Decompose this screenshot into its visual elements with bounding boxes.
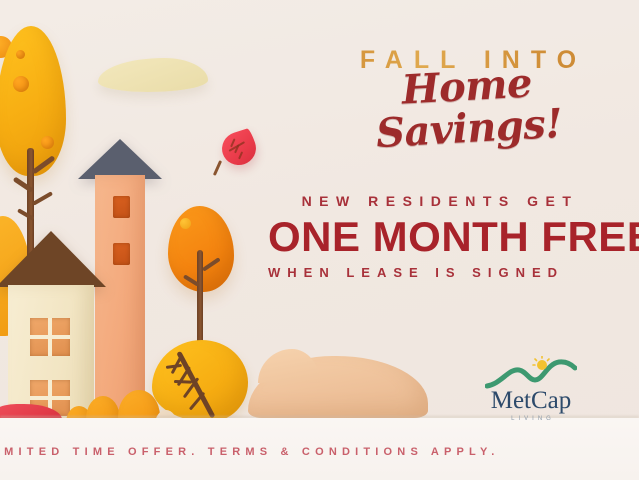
roof-icon <box>0 231 106 287</box>
offer-eyebrow: NEW RESIDENTS GET <box>268 193 612 209</box>
leaf-stem <box>213 160 222 176</box>
disclaimer-text: LIMITED TIME OFFER. TERMS & CONDITIONS A… <box>0 446 500 458</box>
offer-headline: ONE MONTH FREE <box>268 216 639 258</box>
cloud-icon <box>98 58 208 92</box>
leaf-icon <box>218 128 261 170</box>
headline-script: Home Savings! <box>316 58 620 159</box>
branch-icon <box>32 191 53 205</box>
promotional-banner: FALL INTO Home Savings! NEW RESIDENTS GE… <box>0 0 639 480</box>
logo-name: MetCap <box>478 388 584 413</box>
hill-sun-icon <box>485 356 577 390</box>
offer-block: NEW RESIDENTS GET ONE MONTH FREE WHEN LE… <box>268 193 639 280</box>
tree-trunk-icon <box>197 250 203 346</box>
roof-icon <box>78 139 162 179</box>
window-mullion <box>30 335 70 339</box>
tree-fruit-icon <box>13 76 29 92</box>
headline-block: FALL INTO Home Savings! <box>318 48 618 150</box>
window-icon <box>113 196 130 218</box>
logo-tagline: LIVING <box>478 416 584 422</box>
tree-fruit-icon <box>180 218 191 229</box>
metcap-logo[interactable]: MetCap LIVING <box>478 356 584 422</box>
window-icon <box>113 243 130 265</box>
window-mullion <box>30 396 70 400</box>
tree-fruit-icon <box>41 136 54 149</box>
tree-fruit-icon <box>16 50 25 59</box>
offer-condition: WHEN LEASE IS SIGNED <box>268 265 639 280</box>
leaf-vein <box>174 380 192 384</box>
